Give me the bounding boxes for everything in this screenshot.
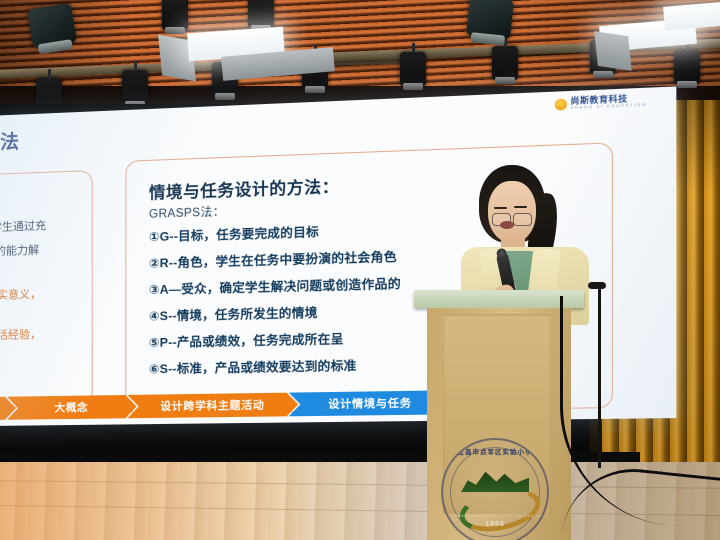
right-card-heading: 情境与任务设计的方法： [149, 172, 339, 203]
par-light-icon [674, 50, 700, 84]
presenter-mouth [500, 221, 514, 229]
stage-presentation-photo: 方法 尚斯教育科技 SHANG SI EDUCATION 要求学生通过充 所涉及… [0, 0, 720, 540]
left-card-line: 效性和现实意义， [0, 286, 41, 304]
mic-stand-head [588, 282, 606, 289]
par-light-icon [248, 0, 274, 28]
left-content-card: 要求学生通过充 所涉及到的能力解 效性和现实意义， 特点和生活经验， [0, 170, 93, 409]
left-card-line: 特点和生活经验， [0, 326, 41, 344]
podium: 宜昌市点军区实验小学 1958 YI CHANG SHI DIAN JUN QU… [425, 290, 573, 540]
chevron-step-big-concept: 大概念 [7, 395, 137, 420]
slide-title: 方法 [0, 127, 20, 156]
left-card-line: 要求学生通过充 [0, 217, 46, 235]
grasps-item: ⑤P--产品或绩效，任务完成所在呈 [149, 330, 344, 351]
sun-icon [555, 98, 567, 110]
grasps-item: ②R--角色，学生在任务中要扮演的社会角色 [149, 247, 397, 271]
chevron-label: 设计情境与任务 [328, 395, 412, 412]
barn-door-icon [594, 31, 631, 71]
eyebrow [494, 207, 507, 209]
emblem-school-name: 宜昌市点军区实验小学 [443, 446, 547, 456]
chevron-label: 设计跨学科主题活动 [160, 397, 264, 414]
grasps-item: ④S--情境，任务所发生的情境 [149, 303, 318, 324]
brand-subtext: SHANG SI EDUCATION [570, 103, 646, 110]
chevron-step-design-activity: 设计跨学科主题活动 [127, 392, 298, 418]
brand-logo: 尚斯教育科技 SHANG SI EDUCATION [555, 94, 647, 111]
fresnel-light-icon [27, 3, 77, 49]
glasses-icon [513, 213, 532, 226]
par-light-icon [492, 46, 518, 80]
grasps-item: ①G--目标，任务要完成的目标 [149, 223, 319, 246]
podium-top-surface [414, 290, 584, 308]
fresnel-light-icon [466, 0, 514, 40]
emblem-pinyin: YI CHANG SHI DIAN JUN QU SHI YAN XIAO XU… [443, 514, 547, 518]
par-light-icon [162, 0, 188, 30]
emblem-year: 1958 [443, 521, 547, 528]
eyebrow [514, 206, 527, 208]
grasps-item: ③A—受众，确定学生解决问题或创造作品的 [149, 274, 401, 298]
grasps-item: ⑥S--标准，产品或绩效要达到的标准 [149, 356, 357, 377]
chevron-label: 大概念 [55, 400, 89, 416]
right-card-subheading: GRASPS法： [149, 203, 225, 222]
school-emblem: 宜昌市点军区实验小学 1958 YI CHANG SHI DIAN JUN QU… [441, 438, 549, 540]
presenter-face [488, 181, 536, 243]
left-card-line: 所涉及到的能力解 [0, 241, 39, 260]
par-light-icon [122, 70, 148, 104]
par-light-icon [400, 52, 426, 86]
flood-light-icon [663, 1, 720, 31]
